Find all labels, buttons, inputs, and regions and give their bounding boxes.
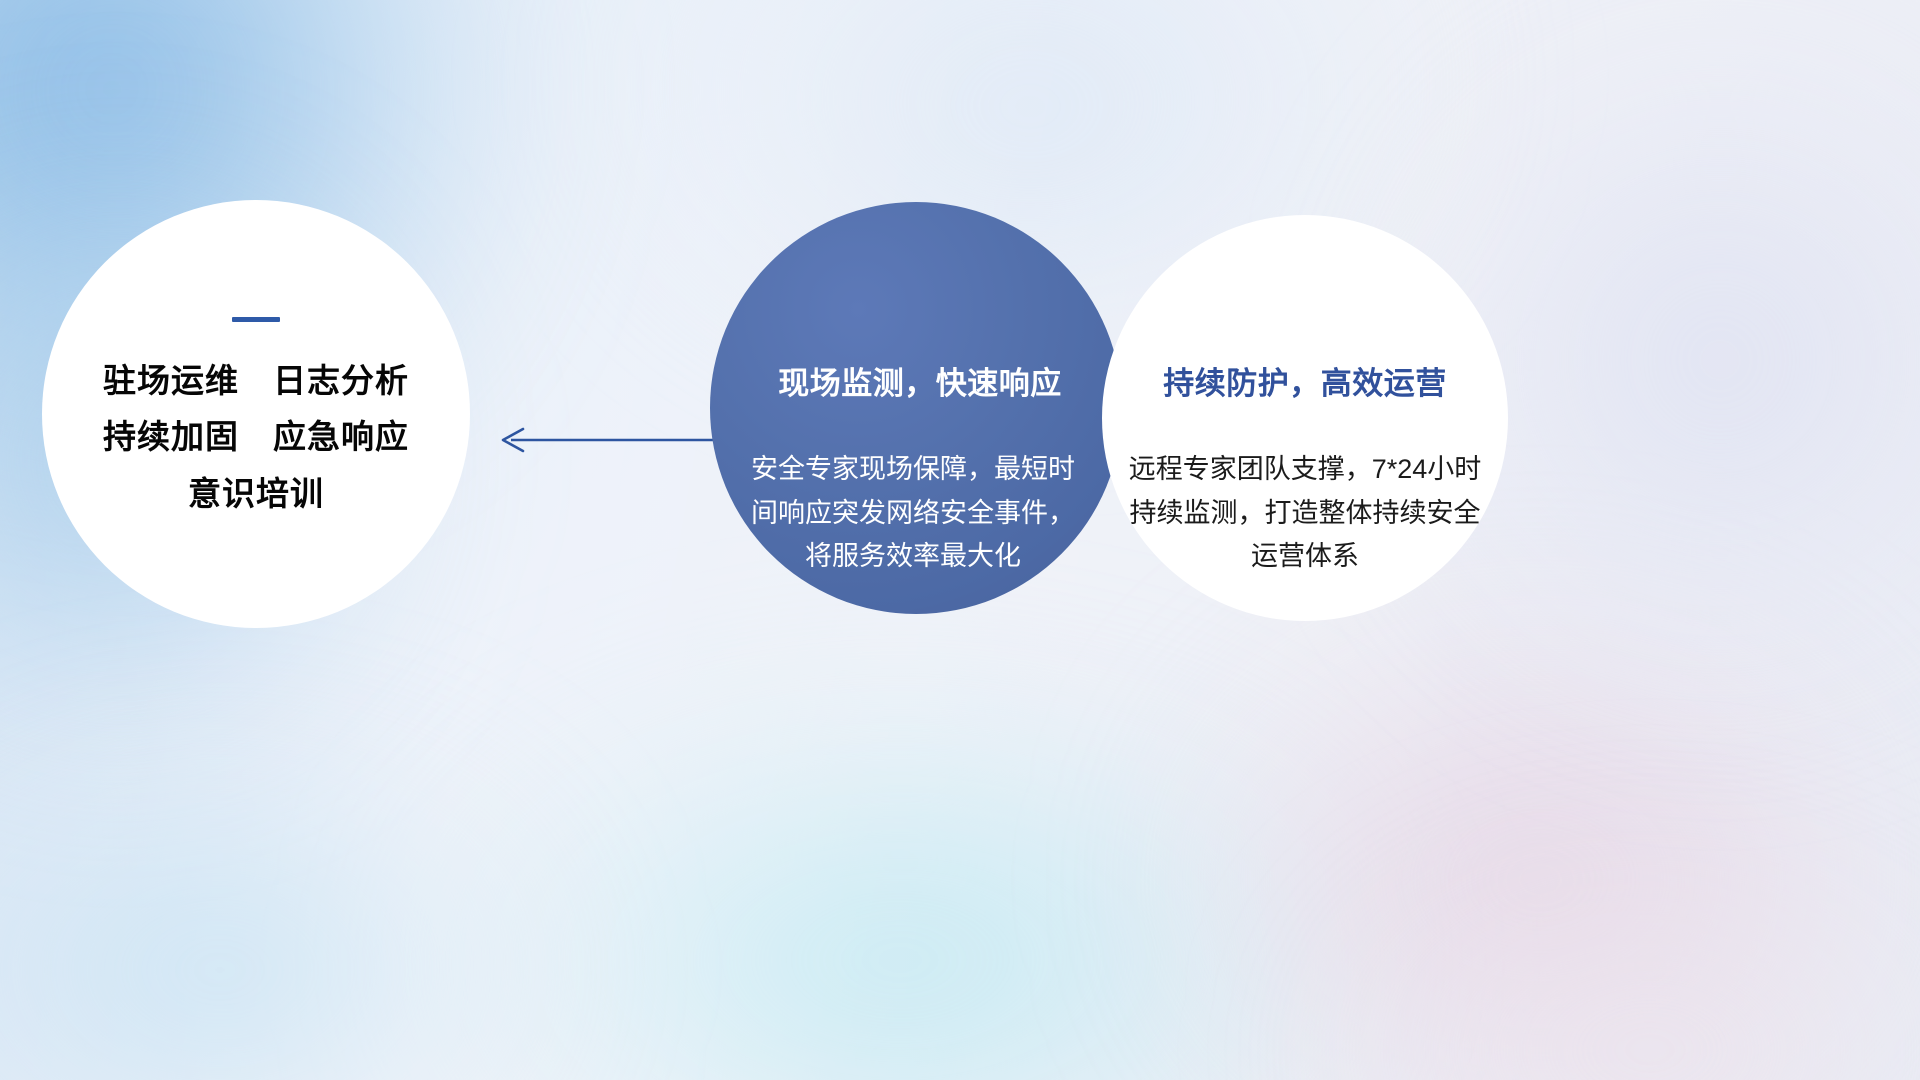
right-circle-title: 持续防护，高效运营 <box>1125 358 1485 403</box>
flow-arrow-left <box>493 424 721 456</box>
middle-circle-body: 安全专家现场保障，最短时间响应突发网络安全事件，将服务效率最大化 <box>748 448 1078 579</box>
middle-circle-title: 现场监测，快速响应 <box>735 358 1105 403</box>
left-service-line-2: 持续加固 应急响应 <box>103 420 409 455</box>
slide-canvas: 驻场运维 日志分析 持续加固 应急响应 意识培训 现场监测，快速响应 安全专家现… <box>0 0 1920 1080</box>
right-circle-body: 远程专家团队支撑，7*24小时持续监测，打造整体持续安全运营体系 <box>1125 448 1485 579</box>
left-service-circle: 驻场运维 日志分析 持续加固 应急响应 意识培训 <box>42 200 470 628</box>
divider-line <box>232 317 280 322</box>
left-service-line-1: 驻场运维 日志分析 <box>103 364 409 399</box>
left-service-list: 驻场运维 日志分析 持续加固 应急响应 意识培训 <box>103 364 409 512</box>
left-service-line-3: 意识培训 <box>188 477 324 512</box>
